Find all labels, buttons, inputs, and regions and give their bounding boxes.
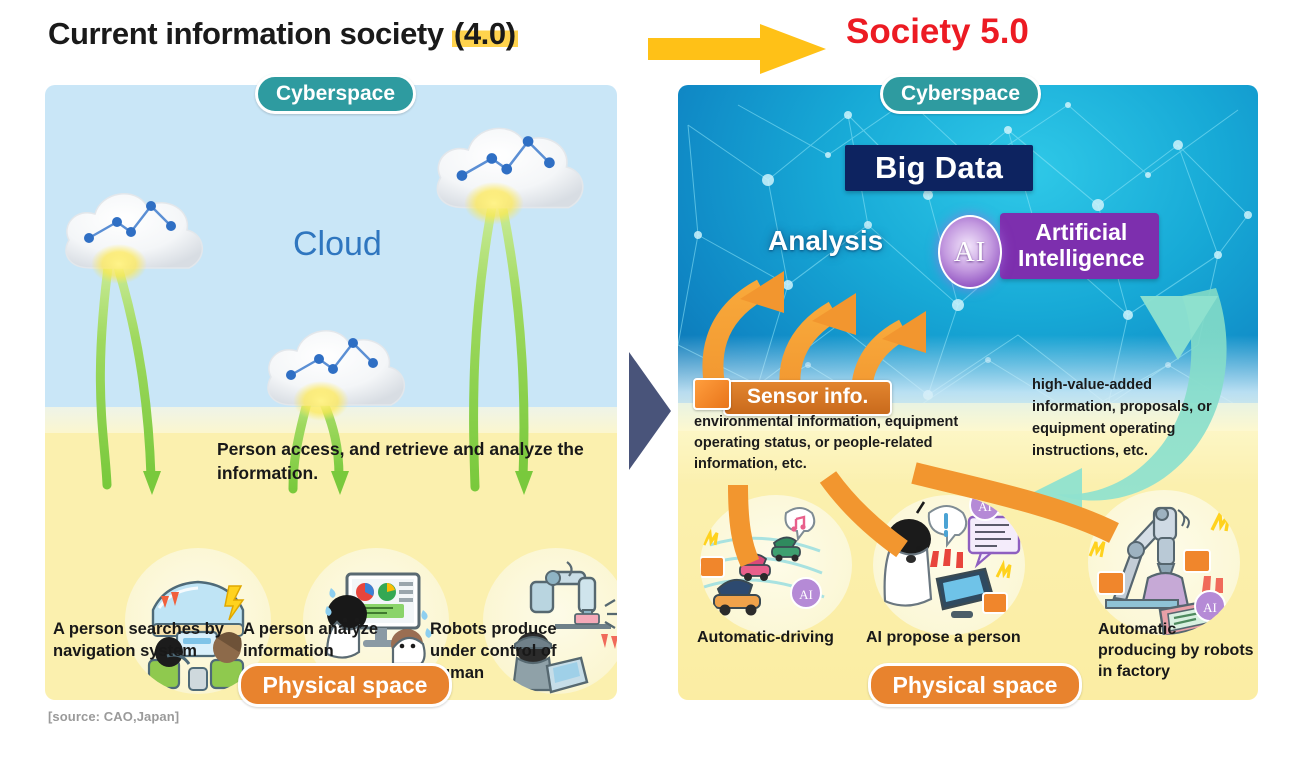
analysis-label: Analysis [768, 225, 883, 257]
cloud-icon-right [425, 103, 597, 231]
sensor-info-detail: environmental information, equipment ope… [694, 412, 984, 475]
person-access-text: Person access, and retrieve and analyze … [217, 437, 617, 485]
caption-analyze: A person analyze information [243, 618, 413, 662]
caption-ai-propose: AI propose a person [866, 628, 1066, 649]
current-society-panel: Cloud Person access, and retrieve and an… [45, 85, 617, 700]
cloud-icon-left [55, 170, 215, 290]
source-credit: [source: CAO,Japan] [48, 709, 179, 724]
cyberspace-badge-left: Cyberspace [255, 74, 416, 114]
caption-robot: Robots produce under control of human [430, 618, 595, 684]
infographic-stage: Current information society (4.0) Societ… [0, 0, 1305, 763]
ai-label-line1: Artificial [1018, 219, 1145, 245]
caption-automatic-driving: Automatic-driving [697, 628, 837, 649]
high-value-output-text: high-value-added information, proposals,… [1032, 374, 1232, 462]
right-panel-title: Society 5.0 [846, 12, 1029, 52]
cloud-label: Cloud [293, 225, 382, 264]
left-title-text: Current information society [48, 16, 452, 51]
physical-space-badge-right: Physical space [868, 663, 1082, 707]
left-panel-title: Current information society (4.0) [48, 16, 518, 52]
cyberspace-badge-right: Cyberspace [880, 74, 1041, 114]
cloud-icon-center [257, 307, 417, 427]
sensor-info-badge: Sensor info. [723, 380, 892, 416]
left-title-version: (4.0) [452, 16, 518, 51]
ai-symbol-text: AI [954, 236, 987, 269]
artificial-intelligence-label: Artificial Intelligence [1000, 213, 1159, 279]
sensor-chip-icon [693, 378, 731, 410]
physical-space-badge-left: Physical space [238, 663, 452, 707]
big-data-label: Big Data [845, 145, 1033, 191]
caption-navigation: A person searches by navigation system [53, 618, 228, 662]
panel-transition-arrow-icon [627, 350, 673, 472]
ai-symbol-badge: AI [938, 215, 1002, 289]
caption-robot-factory: Automatic producing by robots in factory [1098, 620, 1258, 682]
ai-label-line2: Intelligence [1018, 245, 1145, 271]
transition-arrow-icon [648, 22, 828, 76]
